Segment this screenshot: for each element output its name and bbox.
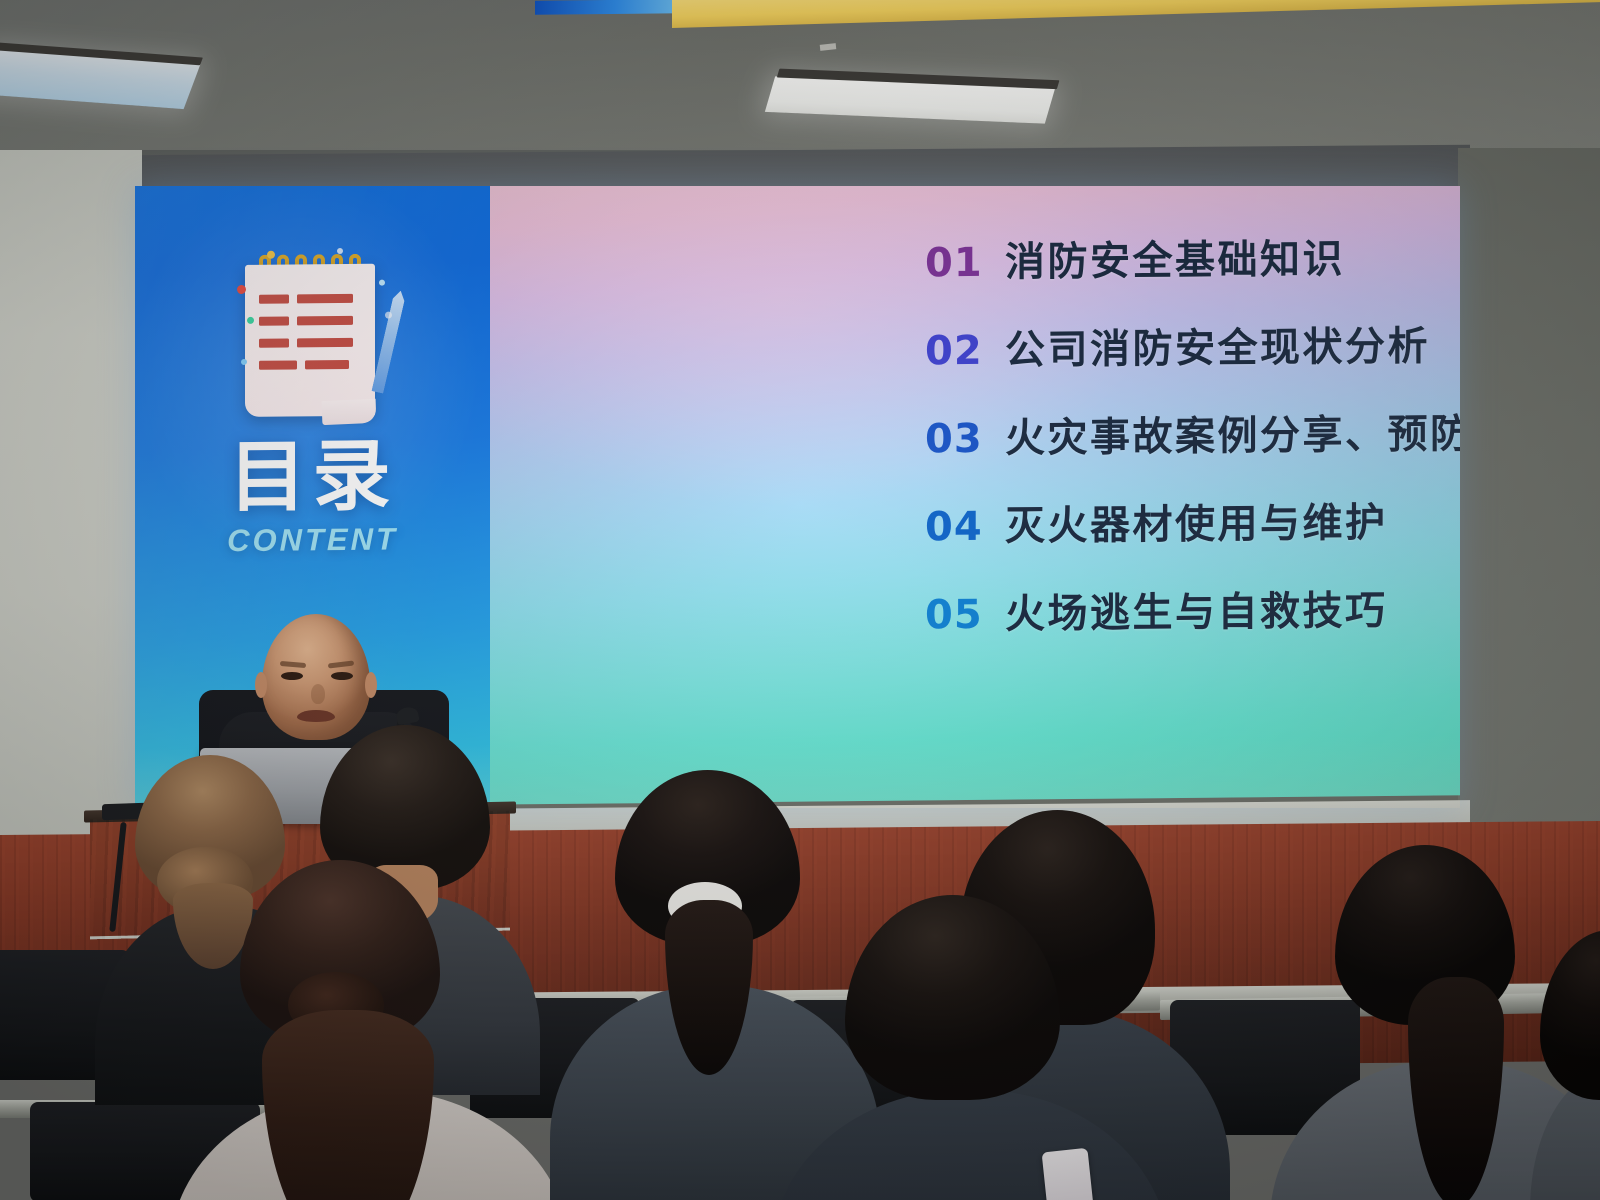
list-item: 02 公司消防安全现状分析 (925, 310, 1460, 406)
attendee-torso (770, 1090, 1170, 1200)
attendee-hair (1540, 930, 1600, 1100)
attendee-ponytail (262, 1010, 434, 1200)
conference-room-scene: 目录 CONTENT 01 消防安全基础知识 02 公司消防安全现状分析 (0, 0, 1600, 1200)
list-item: 05 火场逃生与自救技巧 (925, 574, 1460, 670)
list-item: 03 火灾事故案例分享、预防与应对措施 (925, 398, 1460, 494)
toc-label: 灭火器材使用与维护 (1005, 490, 1388, 552)
toc-label: 火场逃生与自救技巧 (1005, 578, 1388, 640)
toc-label: 火灾事故案例分享、预防与应对措施 (1005, 399, 1460, 464)
top-color-strip (0, 0, 1600, 16)
smartphone-icon[interactable] (1042, 1148, 1095, 1200)
toc-number: 04 (925, 504, 1005, 551)
table-of-contents: 01 消防安全基础知识 02 公司消防安全现状分析 03 火灾事故案例分享、预防… (925, 222, 1460, 670)
audience-group (0, 700, 1600, 1200)
slide-title-cn: 目录 (135, 436, 490, 517)
toc-label: 消防安全基础知识 (1005, 226, 1345, 287)
notepad-icon (227, 245, 399, 432)
list-item: 01 消防安全基础知识 (925, 222, 1460, 318)
toc-number: 01 (925, 240, 1005, 287)
slide-title-en: CONTENT (135, 521, 490, 560)
toc-number: 03 (925, 416, 1005, 463)
list-item: 04 灭火器材使用与维护 (925, 486, 1460, 582)
list-item (1530, 930, 1600, 1200)
toc-number: 05 (925, 592, 1005, 639)
list-item (790, 895, 1150, 1200)
toc-label: 公司消防安全现状分析 (1005, 314, 1430, 376)
top-strip-blue (535, 0, 680, 15)
toc-number: 02 (925, 328, 1005, 375)
list-item (170, 860, 540, 1200)
attendee-hair (845, 895, 1060, 1100)
